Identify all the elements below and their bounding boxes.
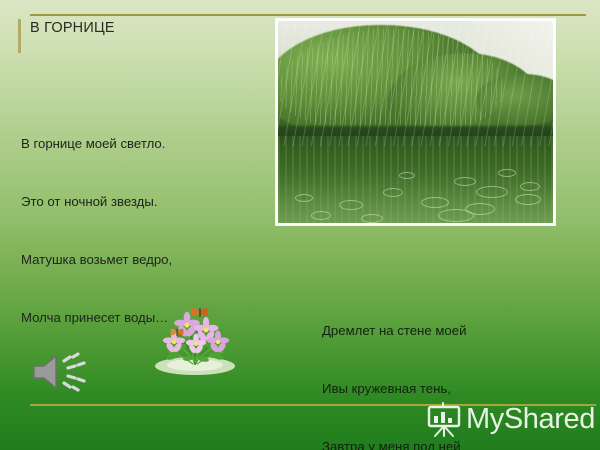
poem-line: Это от ночной звезды. xyxy=(21,192,172,211)
sound-speaker-icon[interactable] xyxy=(28,347,92,397)
presentation-screen-icon xyxy=(424,399,464,439)
willow-river-photo xyxy=(278,21,553,223)
top-divider-rule xyxy=(30,14,586,16)
slide-canvas: В ГОРНИЦЕ xyxy=(0,0,600,450)
watermark-text: MyShared xyxy=(466,405,595,434)
photo-rain-streaks xyxy=(278,21,553,146)
page-title: В ГОРНИЦЕ xyxy=(30,19,115,37)
watermark: MyShared xyxy=(424,398,595,440)
photo-frame xyxy=(276,19,555,225)
poem-line: Ивы кружевная тень, xyxy=(322,379,478,398)
stanza: Красные цветы мои В садике завяли все. Л… xyxy=(21,424,172,450)
photo-rain-ripples xyxy=(278,146,553,223)
flower-bouquet-icon xyxy=(143,292,247,378)
poem-line: Матушка возьмет ведро, xyxy=(21,250,172,269)
slide-title-block: В ГОРНИЦЕ xyxy=(18,19,115,53)
poem-line: Дремлет на стене моей xyxy=(322,321,478,340)
poem-line: В горнице моей светло. xyxy=(21,134,172,153)
